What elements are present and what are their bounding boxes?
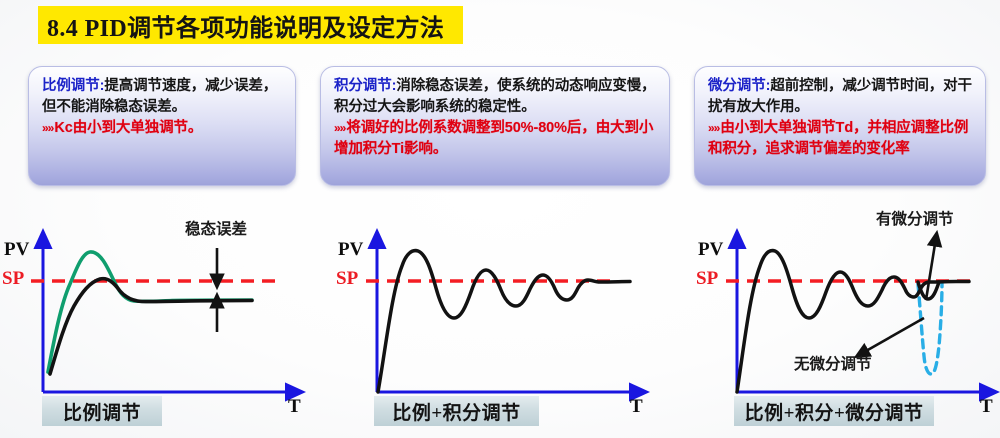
x-axis-label: T bbox=[288, 396, 301, 418]
info-box-2-note: »»将调好的比例系数调整到50%-80%后，由大到小增加积分Ti影响。 bbox=[334, 118, 658, 160]
chart-caption-1-text: 比例调节 bbox=[63, 398, 141, 425]
steady-state-error-label: 稳态误差 bbox=[185, 217, 247, 239]
chart-caption-pid: 比例+积分+微分调节 bbox=[734, 396, 934, 426]
info-box-proportional: 比例调节:提高调节速度，减少误差，但不能消除稳态误差。 »»Kc由小到大单独调节… bbox=[28, 66, 296, 186]
without-derivative-label: 无微分调节 bbox=[794, 352, 872, 374]
info-box-integral: 积分调节:消除稳态误差，使系统的动态响应变慢，积分过大会影响系统的稳定性。 »»… bbox=[320, 66, 670, 186]
with-derivative-label: 有微分调节 bbox=[876, 207, 954, 229]
info-box-2-term: 积分调节: bbox=[334, 78, 396, 94]
info-box-2-body: 积分调节:消除稳态误差，使系统的动态响应变慢，积分过大会影响系统的稳定性。 bbox=[334, 76, 658, 118]
info-box-1-body: 比例调节:提高调节速度，减少误差，但不能消除稳态误差。 bbox=[42, 76, 284, 118]
chevron-double-right-icon: »» bbox=[334, 121, 345, 135]
info-box-3-note-text: 由小到大单独调节Td，并相应调整比例和积分，追求调节偏差的变化率 bbox=[708, 120, 968, 157]
y-axis-label: PV bbox=[338, 239, 363, 261]
chart-caption-proportional: 比例调节 bbox=[42, 396, 162, 426]
x-axis-label: T bbox=[980, 396, 993, 418]
info-box-3-body: 微分调节:超前控制，减少调节时间，对干扰有放大作用。 bbox=[708, 76, 974, 118]
x-axis-label: T bbox=[630, 396, 643, 418]
info-box-1-term: 比例调节: bbox=[42, 78, 104, 94]
info-box-derivative: 微分调节:超前控制，减少调节时间，对干扰有放大作用。 »»由小到大单独调节Td，… bbox=[694, 66, 986, 186]
chevron-double-right-icon: »» bbox=[708, 121, 719, 135]
series-black-damped-oscillation bbox=[378, 251, 630, 392]
info-box-1-note: »»Kc由小到大单独调节。 bbox=[42, 118, 284, 139]
info-box-3-term: 微分调节: bbox=[708, 78, 770, 94]
slide-title-bar: 8.4 PID调节各项功能说明及设定方法 bbox=[38, 6, 463, 44]
setpoint-label: SP bbox=[336, 268, 358, 290]
chevron-double-right-icon: »» bbox=[42, 121, 53, 135]
series-black-response bbox=[50, 279, 252, 374]
info-box-2-note-text: 将调好的比例系数调整到50%-80%后，由大到小增加积分Ti影响。 bbox=[334, 120, 653, 157]
y-axis-label: PV bbox=[698, 239, 723, 261]
series-green-overshoot bbox=[48, 252, 252, 372]
setpoint-label: SP bbox=[2, 268, 24, 290]
info-box-3-note: »»由小到大单独调节Td，并相应调整比例和积分，追求调节偏差的变化率 bbox=[708, 118, 974, 160]
chart-caption-2-text: 比例+积分调节 bbox=[392, 398, 520, 425]
chart-caption-3-text: 比例+积分+微分调节 bbox=[745, 398, 924, 425]
chart-caption-proportional-integral: 比例+积分调节 bbox=[374, 396, 539, 426]
annotation-arrow-without-derivative bbox=[866, 318, 924, 351]
page-title: 8.4 PID调节各项功能说明及设定方法 bbox=[47, 8, 444, 43]
setpoint-label: SP bbox=[696, 268, 718, 290]
info-box-1-note-text: Kc由小到大单独调节。 bbox=[54, 120, 202, 136]
y-axis-label: PV bbox=[4, 239, 29, 261]
